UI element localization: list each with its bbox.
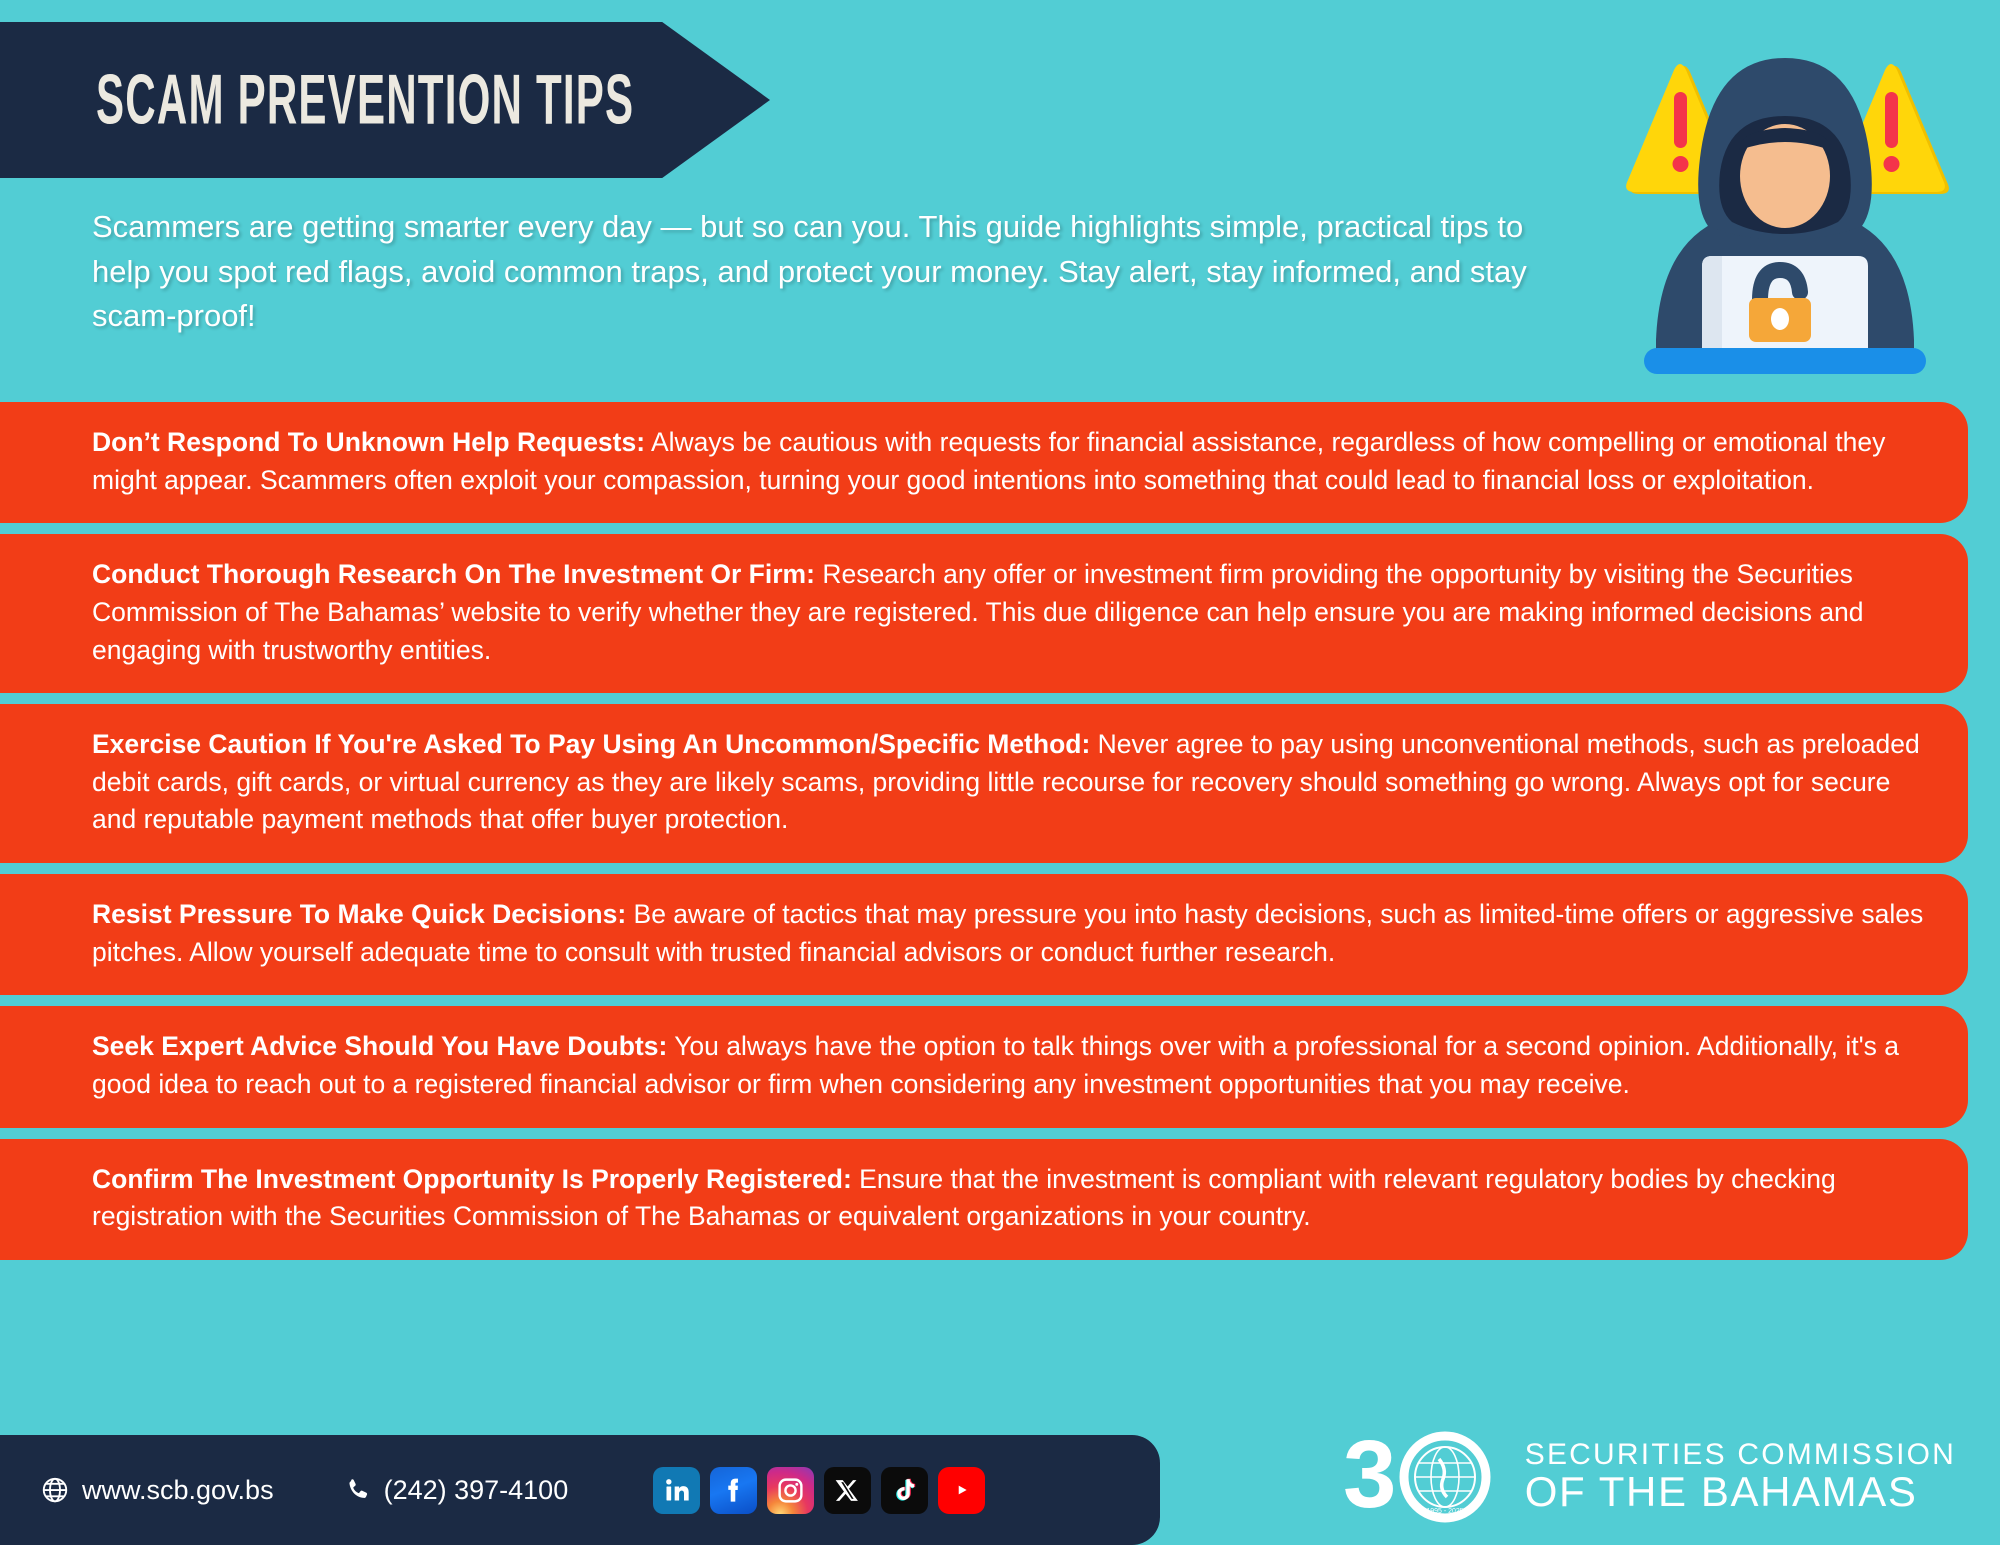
x-twitter-icon[interactable] — [824, 1467, 871, 1514]
logo-line-2: OF THE BAHAMAS — [1525, 1471, 1956, 1514]
logo-line-1: SECURITIES COMMISSION — [1525, 1440, 1956, 1471]
tip-heading: Confirm The Investment Opportunity Is Pr… — [92, 1164, 852, 1194]
globe-icon — [40, 1475, 70, 1505]
anniversary-years: 1995 - 2025 — [1426, 1508, 1463, 1515]
tip-card: Exercise Caution If You're Asked To Pay … — [0, 704, 1968, 863]
header-section: SCAM PREVENTION TIPS Scammers are gettin… — [0, 0, 2000, 400]
tip-heading: Resist Pressure To Make Quick Decisions: — [92, 899, 626, 929]
tip-card: Resist Pressure To Make Quick Decisions:… — [0, 874, 1968, 995]
anniversary-30: 3 — [1343, 1431, 1396, 1523]
phone-text: (242) 397-4100 — [384, 1475, 569, 1506]
logo-wordmark: SECURITIES COMMISSION OF THE BAHAMAS — [1525, 1440, 1956, 1513]
tip-card: Don’t Respond To Unknown Help Requests: … — [0, 402, 1968, 523]
tiktok-icon[interactable] — [881, 1467, 928, 1514]
instagram-icon[interactable] — [767, 1467, 814, 1514]
anniversary-mark: 3 1995 - 2025 — [1343, 1431, 1503, 1523]
phone-icon — [344, 1476, 372, 1504]
globe-emblem-icon: 1995 - 2025 — [1404, 1436, 1486, 1518]
laptop-with-padlock — [1702, 256, 1868, 348]
website-link[interactable]: www.scb.gov.bs — [40, 1475, 274, 1506]
facebook-icon[interactable] — [710, 1467, 757, 1514]
tip-heading: Exercise Caution If You're Asked To Pay … — [92, 729, 1090, 759]
hooded-hacker-illustration — [1570, 30, 2000, 400]
social-links — [653, 1467, 985, 1514]
tip-card: Seek Expert Advice Should You Have Doubt… — [0, 1006, 1968, 1127]
page-title: SCAM PREVENTION TIPS — [96, 60, 634, 141]
tips-list: Don’t Respond To Unknown Help Requests: … — [0, 402, 2000, 1271]
footer-bar: www.scb.gov.bs (242) 397-4100 — [0, 1435, 1160, 1545]
tip-card: Confirm The Investment Opportunity Is Pr… — [0, 1139, 1968, 1260]
tip-heading: Conduct Thorough Research On The Investm… — [92, 559, 815, 589]
title-banner: SCAM PREVENTION TIPS — [0, 22, 770, 178]
tip-heading: Seek Expert Advice Should You Have Doubt… — [92, 1031, 667, 1061]
website-text: www.scb.gov.bs — [82, 1475, 274, 1506]
youtube-icon[interactable] — [938, 1467, 985, 1514]
intro-paragraph: Scammers are getting smarter every day —… — [92, 205, 1552, 339]
tip-card: Conduct Thorough Research On The Investm… — [0, 534, 1968, 693]
phone-number[interactable]: (242) 397-4100 — [344, 1475, 569, 1506]
laptop-base — [1644, 348, 1926, 374]
tip-heading: Don’t Respond To Unknown Help Requests: — [92, 427, 645, 457]
scb-logo: 3 1995 - 2025 SECURITIES COMMISSION OF T… — [1343, 1431, 1956, 1523]
linkedin-icon[interactable] — [653, 1467, 700, 1514]
